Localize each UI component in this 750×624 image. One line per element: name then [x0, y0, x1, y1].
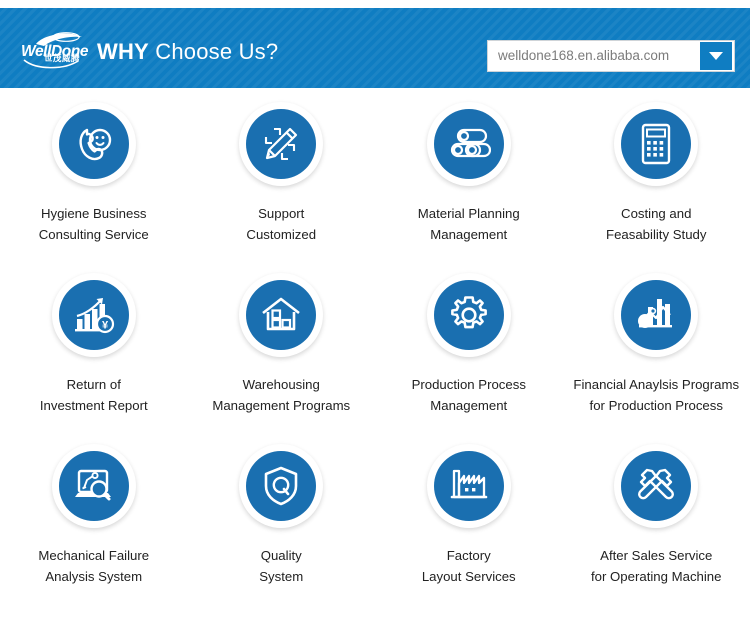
service-label: Hygiene Business Consulting Service: [39, 203, 149, 246]
service-card[interactable]: Factory Layout Services: [375, 430, 563, 601]
service-icon-disc: [434, 451, 504, 521]
service-icon-badge: [52, 102, 136, 186]
service-label: Return of Investment Report: [40, 374, 148, 417]
stacked-pipes-icon: [447, 124, 491, 164]
page-title-rest: Choose Us?: [149, 39, 278, 64]
service-icon-badge: [427, 102, 511, 186]
page-title: WHY Choose Us?: [97, 41, 278, 63]
service-icon-badge: [239, 444, 323, 528]
financial-analysis-chart-icon: [634, 295, 678, 335]
service-label: Quality System: [259, 545, 303, 588]
service-label: Costing and Feasability Study: [606, 203, 706, 246]
service-card[interactable]: Warehousing Management Programs: [188, 259, 376, 430]
url-bar[interactable]: welldone168.en.alibaba.com: [487, 40, 735, 72]
service-card[interactable]: Mechanical Failure Analysis System: [0, 430, 188, 601]
service-icon-badge: [52, 444, 136, 528]
shield-q-icon: [262, 465, 300, 507]
warehouse-boxes-icon: [260, 295, 302, 335]
service-icon-disc: [434, 109, 504, 179]
service-icon-badge: [614, 273, 698, 357]
service-icon-badge: [427, 444, 511, 528]
wrench-screwdriver-icon: [635, 465, 677, 507]
service-icon-badge: [614, 102, 698, 186]
service-icon-badge: [239, 273, 323, 357]
service-label: After Sales Service for Operating Machin…: [591, 545, 721, 588]
service-icon-disc: [246, 451, 316, 521]
brand-name-chinese: 世茂威腾: [44, 54, 80, 63]
service-icon-badge: [239, 102, 323, 186]
service-card[interactable]: Support Customized: [188, 88, 376, 259]
laptop-robot-magnifier-icon: [72, 466, 116, 506]
service-label: Mechanical Failure Analysis System: [38, 545, 149, 588]
service-label: Support Customized: [246, 203, 316, 246]
service-label: Production Process Management: [412, 374, 526, 417]
growth-bar-chart-currency-icon: ¥: [72, 294, 116, 336]
service-card[interactable]: Material Planning Management: [375, 88, 563, 259]
service-icon-disc: [246, 109, 316, 179]
service-card[interactable]: ¥ Return of Investment Report: [0, 259, 188, 430]
service-icon-disc: [621, 451, 691, 521]
service-icon-badge: [427, 273, 511, 357]
service-icon-disc: [621, 280, 691, 350]
page-root: WellDone 世茂威腾 WHY Choose Us? welldone168…: [0, 0, 750, 624]
service-icon-badge: ¥: [52, 273, 136, 357]
caret-down-icon: [709, 52, 723, 60]
service-card[interactable]: Production Process Management: [375, 259, 563, 430]
service-icon-disc: [434, 280, 504, 350]
url-input[interactable]: welldone168.en.alibaba.com: [488, 49, 700, 63]
service-card[interactable]: Quality System: [188, 430, 376, 601]
service-label: Factory Layout Services: [422, 545, 516, 588]
service-card[interactable]: Costing and Feasability Study: [563, 88, 750, 259]
service-label: Financial Anaylsis Programs for Producti…: [573, 374, 739, 417]
service-icon-disc: ¥: [59, 280, 129, 350]
service-icon-disc: [246, 280, 316, 350]
service-card[interactable]: Financial Anaylsis Programs for Producti…: [563, 259, 750, 430]
service-icon-disc: [59, 109, 129, 179]
svg-text:¥: ¥: [102, 320, 109, 332]
phone-smiley-icon: [72, 122, 116, 166]
service-card[interactable]: Hygiene Business Consulting Service: [0, 88, 188, 259]
gear-icon: [448, 294, 490, 336]
service-icon-disc: [59, 451, 129, 521]
url-dropdown-button[interactable]: [700, 42, 732, 70]
pencil-design-icon: [260, 123, 302, 165]
calculator-icon: [637, 122, 675, 166]
factory-icon: [448, 467, 490, 505]
service-label: Warehousing Management Programs: [212, 374, 350, 417]
service-label: Material Planning Management: [418, 203, 520, 246]
page-header: WellDone 世茂威腾 WHY Choose Us? welldone168…: [0, 8, 750, 88]
welldone-globe-logo-icon: WellDone: [20, 27, 96, 73]
service-icon-disc: [621, 109, 691, 179]
service-icon-badge: [614, 444, 698, 528]
page-title-bold: WHY: [97, 39, 149, 64]
service-card[interactable]: After Sales Service for Operating Machin…: [563, 430, 750, 601]
services-grid: Hygiene Business Consulting Service: [0, 88, 750, 624]
